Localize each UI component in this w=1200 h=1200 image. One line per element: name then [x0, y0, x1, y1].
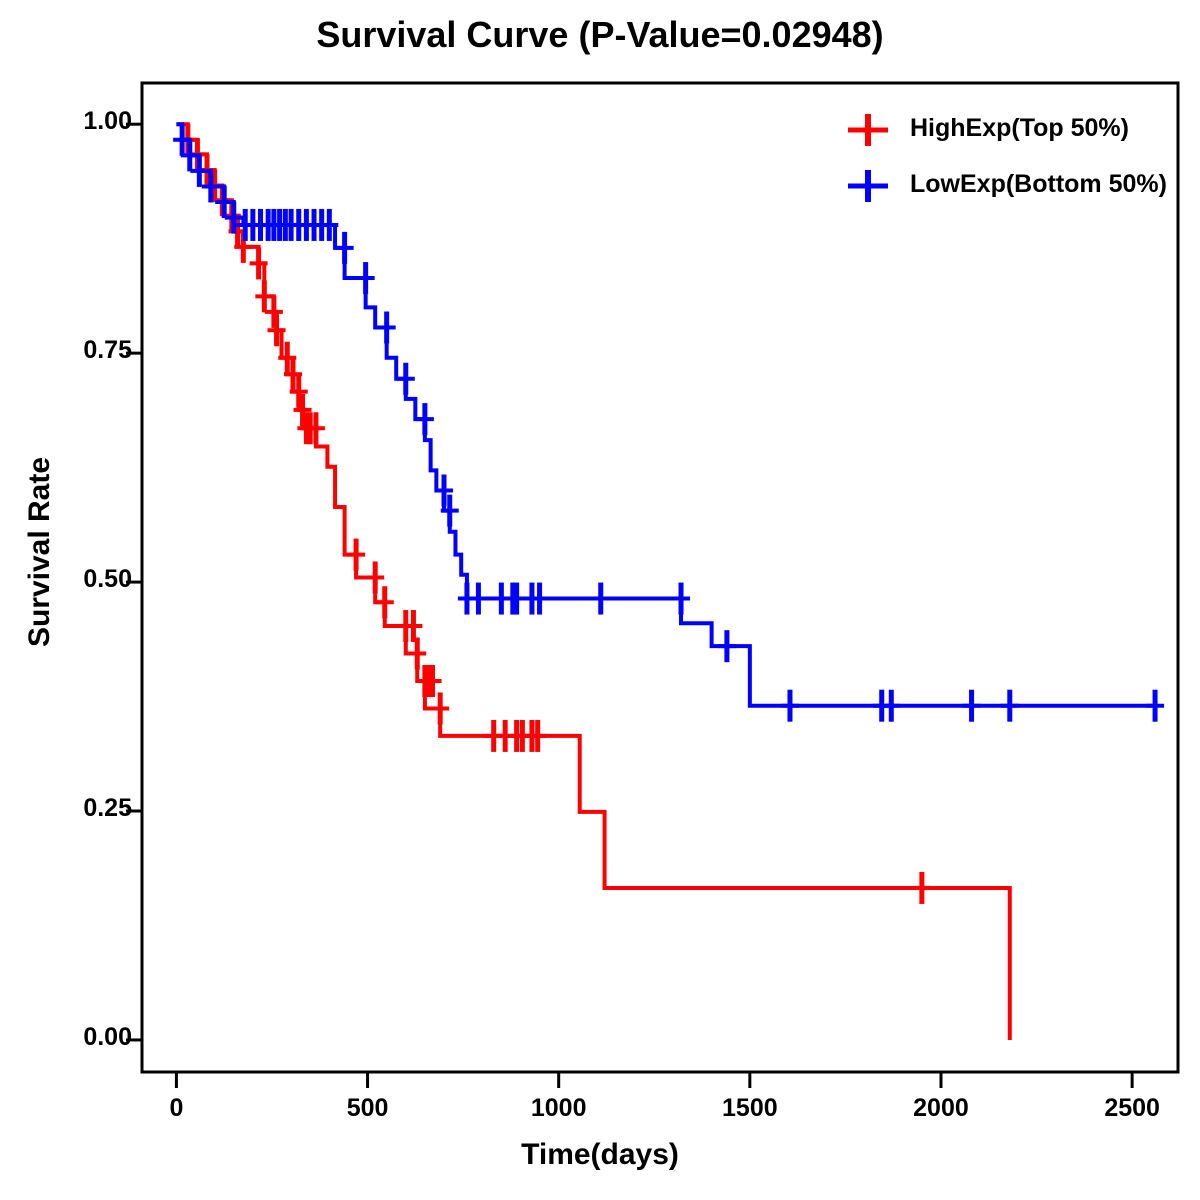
censor-tick [718, 630, 736, 662]
step-line [176, 124, 1009, 1040]
censor-tick [357, 262, 375, 294]
censor-tick [408, 638, 426, 670]
series-group [173, 124, 1164, 1040]
censor-tick [336, 232, 354, 264]
censor-tick [469, 583, 487, 615]
series-highexp [176, 124, 1009, 1040]
legend-label: LowExp(Bottom 50%) [910, 170, 1167, 199]
survival-curve-figure: Survival Curve (P-Value=0.02948) Surviva… [0, 0, 1200, 1200]
censor-tick [397, 363, 415, 395]
censor-tick [1001, 690, 1019, 722]
censor-tick [366, 562, 384, 594]
censor-tick [672, 583, 690, 615]
censor-tick [592, 583, 610, 615]
censor-tick [265, 296, 283, 328]
censor-tick [1146, 690, 1164, 722]
censor-tick [378, 312, 396, 344]
legend-label: HighExp(Top 50%) [910, 114, 1129, 143]
censor-tick [781, 690, 799, 722]
legend-marker [848, 114, 888, 146]
censor-tick [431, 692, 449, 724]
censor-tick [913, 872, 931, 904]
censor-tick [347, 539, 365, 571]
legend-marker [848, 170, 888, 202]
censor-tick [376, 586, 394, 618]
censor-tick [416, 403, 434, 435]
axis-ticks [126, 124, 1132, 1088]
censor-tick [963, 690, 981, 722]
censor-tick [255, 280, 273, 312]
censor-tick [882, 690, 900, 722]
